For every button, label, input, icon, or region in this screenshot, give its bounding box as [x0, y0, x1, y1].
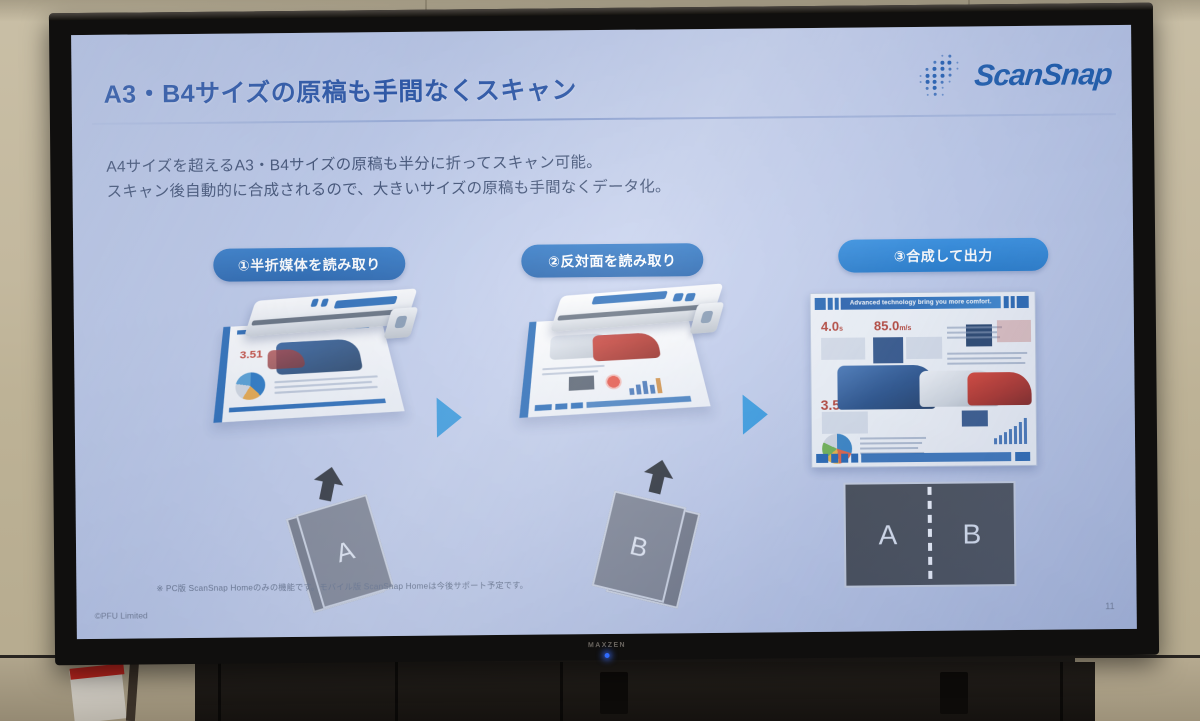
poster-footer-block: [841, 454, 848, 463]
poster-footer-block: [831, 454, 838, 463]
poster-headline: Advanced technology bring you more comfo…: [841, 296, 1001, 310]
poster-thumb-tire: [873, 337, 903, 363]
doc-bar-col: [642, 381, 648, 394]
up-arrow-icon: [640, 456, 677, 496]
poster-text-line: [947, 357, 1021, 359]
poster-caption-box: [822, 411, 868, 433]
tv-stand-leg: [600, 672, 628, 714]
arrow-shaft: [649, 471, 666, 494]
scanner-illustration-1: 3.51: [224, 294, 411, 424]
poster-text-line: [947, 326, 1002, 328]
up-arrow-icon: [310, 464, 346, 503]
television: MAXZEN A3・B4サイズの原稿も手間なくスキャン ScanSnap A4サ…: [49, 3, 1159, 666]
poster-bar: [1004, 432, 1007, 444]
flow-arrow-icon: [743, 394, 768, 434]
poster-header-row: Advanced technology bring you more comfo…: [811, 296, 1035, 310]
doc-bar-col: [636, 384, 642, 394]
poster-footer-row: [812, 452, 1036, 463]
scansnap-logo: ScanSnap: [915, 51, 1112, 101]
poster-text-line: [947, 352, 1027, 354]
combined-output-box: A B: [843, 481, 1016, 588]
doc-bar-col: [656, 378, 663, 393]
doc-car-red: [592, 332, 661, 361]
doc-footer-block: [571, 402, 583, 409]
copyright-text: ©PFU Limited: [95, 610, 148, 621]
poster-thumb-car: [962, 410, 988, 426]
flow-arrow-icon: [437, 397, 462, 437]
folded-sheet-b: B: [600, 495, 697, 608]
tv-power-led: [605, 653, 610, 658]
cabinet-edge: [395, 662, 398, 721]
step-pill-3: ③合成して出力: [838, 238, 1048, 273]
doc-thumbnail: [569, 376, 595, 391]
poster-bar: [999, 435, 1002, 444]
tv-screen: A3・B4サイズの原稿も手間なくスキャン ScanSnap A4サイズを超えるA…: [71, 25, 1137, 639]
doc-pie-chart: [234, 372, 265, 401]
arrow-shaft: [319, 479, 335, 502]
folded-sheet-a: A: [294, 500, 391, 613]
poster-header-block: [1017, 296, 1029, 308]
poster-stat-2: 85.0m/s: [874, 318, 912, 333]
output-poster: Advanced technology bring you more comfo…: [810, 291, 1038, 468]
doc-text-line: [542, 370, 598, 375]
doc-bar-col: [650, 385, 656, 394]
doc-bar-col: [629, 388, 634, 395]
combined-half-a: A: [845, 484, 930, 586]
poster-footer-band: [861, 452, 1011, 462]
scanned-document-1: 3.51: [213, 319, 404, 423]
scanner-illustration-2: [530, 289, 717, 419]
poster-bar-chart: [994, 418, 1030, 444]
tv-brand-label: MAXZEN: [588, 642, 626, 649]
doc-footer-band: [229, 399, 386, 413]
poster-small-chart: [997, 320, 1031, 342]
room-scene: MAXZEN A3・B4サイズの原稿も手間なくスキャン ScanSnap A4サ…: [0, 0, 1200, 721]
logo-dot-matrix-icon: [915, 53, 963, 101]
presentation-slide: A3・B4サイズの原稿も手間なくスキャン ScanSnap A4サイズを超えるA…: [71, 25, 1137, 639]
poster-footer-block: [816, 454, 828, 463]
poster-bar: [994, 438, 997, 444]
title-divider: [92, 113, 1116, 125]
poster-car-red: [967, 372, 1031, 406]
poster-bar: [1019, 422, 1022, 444]
poster-header-block: [828, 298, 833, 310]
step-pill-1: ①半折媒体を読み取り: [213, 247, 405, 282]
doc-side-stripe: [213, 327, 230, 423]
doc-footer-block: [535, 404, 552, 411]
poster-text-line: [860, 447, 918, 449]
poster-header-block: [1004, 296, 1009, 308]
scanned-document-2: [519, 314, 710, 418]
page-title: A3・B4サイズの原稿も手間なくスキャン: [103, 70, 576, 111]
poster-stat-1-value: 4.0: [821, 319, 839, 334]
doc-footer-band: [586, 396, 691, 408]
poster-footer-block: [851, 454, 858, 463]
poster-header-block: [1011, 296, 1015, 308]
poster-bar: [1009, 429, 1012, 444]
poster-stat-2-value: 85.0: [874, 318, 899, 333]
poster-text-line: [860, 442, 922, 444]
poster-header-block: [815, 298, 826, 310]
doc-radial-gauge: [605, 374, 622, 390]
poster-footer-block: [1015, 452, 1030, 461]
poster-caption-box: [906, 337, 942, 359]
tv-stand-leg: [940, 672, 968, 714]
poster-text-line: [860, 437, 926, 439]
logo-wordmark: ScanSnap: [973, 58, 1113, 93]
slide-footnote: ※ PC版 ScanSnap Homeのみの機能です。モバイル版 ScanSna…: [156, 579, 528, 595]
lead-line-2: スキャン後自動的に合成されるので、大きいサイズの原稿も手間なくデータ化。: [106, 174, 670, 205]
combined-half-b: B: [929, 483, 1014, 585]
poster-text-line: [947, 362, 1025, 364]
step-pill-2: ②反対面を読み取り: [521, 243, 703, 278]
poster-bar: [1014, 426, 1017, 444]
cabinet-edge: [560, 662, 563, 721]
poster-bar: [1024, 418, 1027, 444]
slide-lead-text: A4サイズを超えるA3・B4サイズの原稿も半分に折ってスキャン可能。 スキャン後…: [106, 149, 671, 205]
doc-stat: 3.51: [239, 349, 262, 361]
poster-caption-box: [821, 337, 865, 359]
poster-stat-1: 4.0s: [821, 319, 843, 334]
poster-stat-2-unit: m/s: [899, 325, 911, 332]
poster-header-block: [835, 298, 839, 310]
doc-footer-block: [555, 403, 567, 410]
doc-side-stripe: [519, 322, 536, 418]
poster-stat-1-unit: s: [839, 326, 843, 333]
cabinet-edge: [218, 662, 221, 721]
poster-text-line: [947, 336, 1000, 338]
page-number: 11: [1105, 601, 1114, 611]
cabinet-edge: [1060, 662, 1063, 721]
